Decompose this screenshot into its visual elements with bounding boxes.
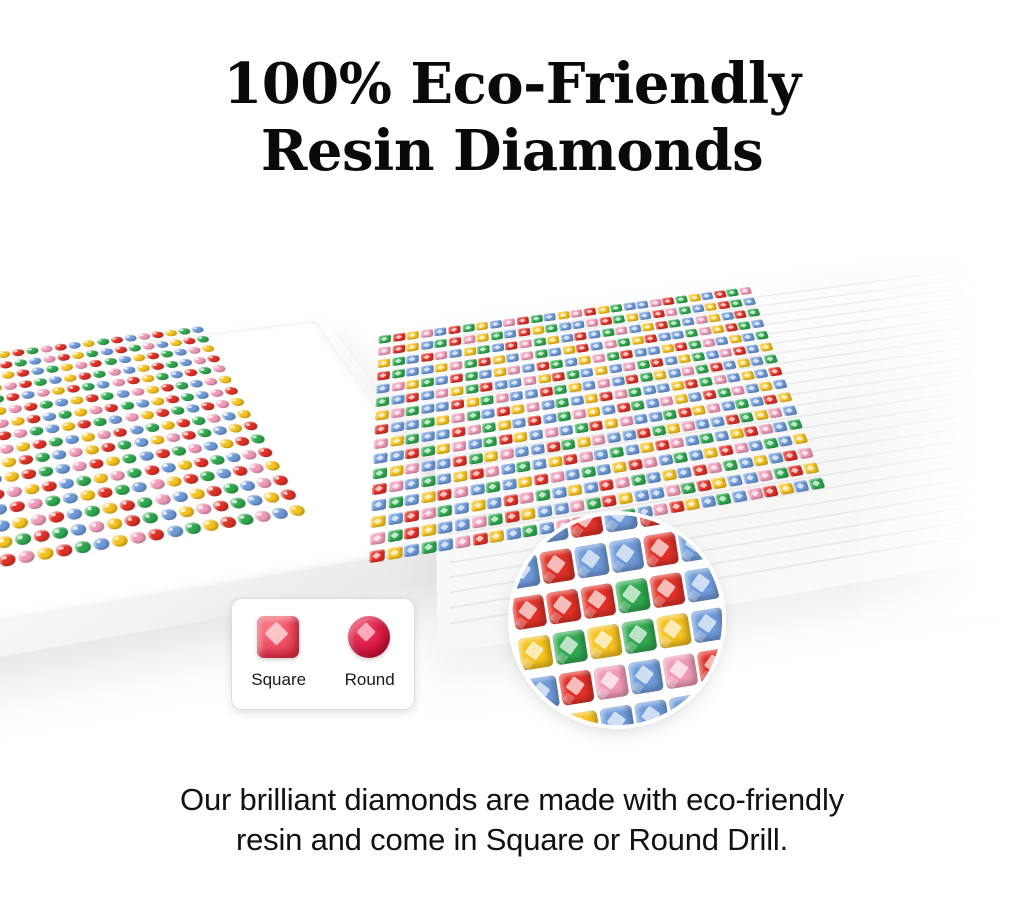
drill-bead	[644, 334, 658, 343]
drill-bead	[471, 515, 486, 529]
drill-bead	[0, 488, 5, 501]
drill-bead	[159, 383, 175, 392]
drill-bead	[194, 390, 210, 400]
drill-bead	[718, 444, 734, 456]
drill-bead	[684, 498, 701, 511]
drill-bead	[553, 502, 569, 515]
drill-bead	[703, 688, 722, 725]
drill-bead	[572, 409, 587, 420]
drill-bead	[520, 351, 533, 361]
drill-bead	[254, 477, 273, 489]
drill-bead	[467, 424, 481, 435]
drill-bead	[518, 476, 533, 489]
drill-bead	[71, 351, 85, 359]
drill-bead	[546, 335, 559, 345]
drill-bead	[217, 375, 233, 384]
drill-bead	[199, 401, 216, 411]
drill-shape-legend[interactable]: Square Round	[231, 598, 415, 710]
drill-bead	[654, 321, 668, 330]
drill-bead	[688, 293, 702, 302]
drill-bead	[449, 349, 462, 359]
drill-bead	[96, 429, 113, 440]
drill-bead	[159, 350, 174, 358]
caption-line-2: resin and come in Square or Round Drill.	[0, 820, 1024, 860]
legend-gems	[232, 613, 414, 661]
drill-bead	[45, 365, 59, 374]
drill-bead	[41, 480, 58, 492]
drill-bead	[630, 400, 645, 411]
drill-bead	[204, 485, 223, 498]
drill-bead	[680, 421, 695, 432]
drill-bead	[596, 378, 610, 388]
drill-bead	[596, 463, 612, 475]
drill-bead	[567, 484, 583, 497]
drill-bead	[504, 329, 517, 338]
drill-bead	[159, 461, 177, 473]
drill-bead	[141, 511, 160, 525]
drill-bead	[51, 526, 69, 540]
drill-bead	[533, 473, 548, 486]
drill-bead	[227, 423, 245, 434]
drill-bead	[11, 348, 25, 356]
drill-bead	[491, 343, 504, 353]
drill-bead	[650, 358, 664, 368]
drill-bead	[405, 478, 419, 491]
drill-bead	[623, 302, 636, 311]
drill-bead	[516, 460, 531, 472]
drill-bead	[512, 553, 541, 590]
drill-bead	[3, 381, 17, 390]
drill-bead	[392, 333, 405, 342]
drill-bead	[583, 307, 596, 316]
drill-bead	[599, 704, 636, 725]
drill-bead	[175, 459, 193, 471]
drill-bead	[508, 378, 522, 388]
drill-bead	[173, 348, 188, 356]
drill-bead	[33, 377, 48, 386]
drill-bead	[462, 335, 475, 344]
drill-bead	[153, 493, 172, 506]
drill-bead	[421, 390, 434, 401]
drill-bead	[452, 426, 466, 437]
drill-bead	[99, 347, 114, 355]
drill-bead	[568, 382, 582, 392]
drill-bead	[674, 342, 688, 352]
drill-bead	[603, 339, 617, 349]
drill-bead	[197, 366, 213, 375]
drill-bead	[421, 340, 434, 350]
legend-label-square: Square	[251, 670, 306, 690]
drill-bead	[406, 354, 419, 364]
drill-bead	[694, 315, 708, 324]
drill-bead	[479, 369, 492, 379]
drill-bead	[421, 431, 435, 443]
drill-bead	[469, 468, 484, 480]
drill-bead	[470, 483, 485, 496]
drill-bead	[119, 400, 135, 410]
drill-bead	[711, 325, 725, 334]
drill-bead	[555, 397, 569, 408]
product-banner: 100% Eco-Friendly Resin Diamonds Square …	[0, 0, 1024, 923]
drill-bead	[740, 370, 755, 380]
drill-bead	[392, 344, 405, 354]
drill-bead	[404, 543, 419, 557]
drill-bead	[688, 391, 703, 402]
drill-bead	[547, 456, 562, 468]
drill-bead	[608, 364, 622, 374]
drill-bead	[271, 474, 290, 486]
drill-bead	[406, 392, 419, 403]
drill-bead	[131, 481, 149, 493]
drill-bead	[584, 393, 598, 404]
drill-bead	[532, 458, 547, 470]
drill-bead	[782, 405, 798, 416]
drill-bead	[434, 327, 446, 336]
drill-bead	[576, 436, 591, 448]
drill-bead	[388, 496, 403, 509]
drill-bead	[378, 346, 391, 356]
drill-bead	[371, 515, 386, 529]
drill-bead	[176, 505, 195, 518]
drill-bead	[757, 469, 774, 481]
drill-bead	[737, 457, 753, 469]
drill-bead	[722, 459, 738, 471]
drill-bead	[111, 378, 126, 387]
drill-bead	[436, 443, 450, 455]
drill-bead	[712, 374, 727, 384]
drill-bead	[701, 338, 715, 348]
drill-bead	[612, 315, 625, 324]
drill-bead	[169, 370, 185, 379]
drill-bead	[665, 308, 679, 317]
drill-bead	[100, 442, 117, 453]
drill-bead	[134, 398, 150, 408]
drill-bead	[567, 515, 604, 538]
drill-bead	[256, 446, 275, 457]
drill-bead	[645, 471, 661, 484]
drill-bead	[101, 501, 119, 514]
drill-bead	[704, 302, 718, 311]
drill-bead	[670, 381, 685, 391]
drill-bead	[733, 310, 747, 319]
drill-bead	[224, 451, 242, 462]
drill-bead	[40, 345, 54, 353]
drill-bead	[606, 432, 621, 444]
drill-bead	[123, 412, 139, 422]
drill-bead	[551, 372, 565, 382]
drill-bead	[187, 346, 202, 354]
drill-bead	[8, 404, 23, 414]
drill-bead	[496, 406, 510, 417]
drill-bead	[714, 430, 730, 442]
drill-bead	[195, 335, 210, 343]
drill-bead	[647, 346, 661, 356]
drill-bead	[534, 349, 547, 359]
drill-bead	[54, 343, 68, 351]
drill-bead	[85, 349, 99, 357]
drill-bead	[731, 490, 748, 503]
drill-bead	[389, 465, 403, 477]
drill-bead	[465, 384, 478, 395]
drill-bead	[130, 387, 146, 396]
drill-bead	[170, 445, 188, 456]
drill-bead	[617, 338, 631, 348]
drill-bead	[141, 342, 156, 350]
drill-bead	[677, 407, 692, 418]
drill-bead	[634, 699, 671, 725]
drill-bead	[37, 465, 54, 477]
drill-bead	[8, 500, 25, 513]
drill-bead	[140, 374, 156, 383]
round-drill-tray	[0, 268, 380, 640]
drill-bead	[688, 340, 702, 350]
drill-bead	[557, 411, 571, 422]
drill-bead	[578, 451, 593, 463]
drill-bead	[497, 420, 511, 431]
drill-bead	[388, 480, 403, 493]
drill-bead	[712, 520, 722, 557]
drill-bead	[188, 379, 204, 388]
drill-bead	[767, 452, 784, 464]
drill-bead	[211, 425, 229, 436]
drill-bead	[608, 537, 645, 574]
drill-bead	[513, 431, 527, 443]
drill-bead	[405, 447, 419, 459]
drill-bead	[478, 357, 491, 367]
drill-bead	[421, 475, 435, 488]
drill-bead	[206, 354, 222, 363]
drill-bead	[178, 358, 193, 367]
drill-bead	[777, 392, 793, 403]
drill-bead	[169, 406, 186, 416]
drill-bead	[89, 359, 104, 368]
drill-bead	[665, 484, 681, 497]
drill-bead	[527, 415, 541, 426]
drill-bead	[492, 355, 505, 365]
drill-bead	[558, 322, 571, 331]
drill-bead	[730, 385, 745, 396]
drill-bead	[617, 492, 633, 505]
drill-bead	[677, 354, 691, 364]
drill-bead	[688, 449, 704, 461]
drill-bead	[657, 332, 671, 341]
drill-bead	[30, 367, 44, 376]
drill-bead	[436, 415, 450, 426]
drill-bead	[574, 542, 611, 579]
drill-bead	[602, 515, 639, 533]
drill-bead	[406, 342, 419, 352]
drill-bead	[68, 341, 82, 349]
drill-bead	[503, 318, 516, 327]
drill-bead	[551, 486, 566, 499]
drill-bead	[0, 383, 2, 392]
drill-bead	[435, 375, 448, 385]
drill-bead	[0, 350, 11, 358]
drill-bead	[612, 461, 628, 473]
drill-bead	[421, 507, 436, 520]
drill-bead	[164, 360, 179, 369]
drill-bead	[435, 363, 448, 373]
drill-bead	[64, 434, 80, 445]
drill-bead	[662, 297, 675, 306]
drill-bead	[164, 432, 181, 443]
drill-bead	[190, 415, 207, 425]
drill-bead	[437, 473, 451, 486]
drill-bead	[435, 339, 448, 349]
drill-bead	[678, 306, 692, 315]
drill-bead	[104, 455, 121, 467]
drill-bead	[633, 348, 647, 358]
drill-bead	[540, 399, 554, 410]
drill-bead	[580, 368, 594, 378]
drill-bead	[560, 333, 573, 342]
drill-bead	[698, 377, 713, 387]
drill-bead	[627, 387, 642, 398]
drill-bead	[542, 413, 556, 424]
drill-bead	[772, 421, 788, 432]
drill-bead	[636, 515, 673, 528]
drill-bead	[553, 384, 567, 395]
drill-bead	[601, 404, 616, 415]
drill-bead	[762, 437, 778, 449]
drill-bead	[448, 325, 460, 334]
drill-bead	[616, 402, 631, 413]
drill-bead	[591, 434, 606, 446]
drill-bead	[758, 423, 774, 434]
drill-bead	[12, 428, 28, 439]
drill-bead	[0, 553, 16, 568]
drill-bead	[31, 439, 47, 450]
drill-bead	[652, 309, 666, 318]
drill-bead	[92, 537, 111, 551]
drill-bead	[516, 316, 529, 325]
drill-bead	[531, 326, 544, 335]
drill-bead	[175, 418, 192, 428]
drill-bead	[669, 437, 685, 449]
drill-bead	[503, 494, 518, 507]
drill-bead	[3, 471, 20, 483]
drill-bead	[604, 418, 619, 429]
drill-bead	[183, 521, 203, 535]
drill-bead	[599, 391, 613, 402]
drill-bead	[58, 477, 75, 489]
drill-bead	[697, 647, 722, 684]
drill-bead	[583, 481, 599, 494]
drill-bead	[44, 495, 62, 508]
drill-bead	[742, 297, 756, 306]
drill-bead	[108, 414, 124, 424]
drill-bead	[706, 403, 721, 414]
drill-bead	[17, 549, 36, 564]
drill-bead	[0, 473, 2, 485]
drill-bead	[536, 361, 550, 371]
drill-bead	[530, 314, 543, 323]
drill-bead	[36, 546, 55, 561]
drill-bead	[36, 388, 51, 397]
drill-bead	[61, 492, 79, 505]
drill-bead	[73, 407, 89, 417]
drill-bead	[451, 412, 465, 423]
drill-bead	[552, 629, 589, 666]
drill-bead	[480, 395, 494, 406]
drill-bead	[722, 360, 737, 370]
drill-bead	[533, 337, 546, 347]
drill-bead	[83, 504, 101, 517]
drill-bead	[54, 463, 71, 475]
drill-bead	[711, 477, 728, 490]
round-gem-icon	[348, 616, 390, 658]
drill-bead	[116, 440, 133, 451]
drill-bead	[747, 487, 764, 500]
drill-bead	[587, 330, 600, 339]
drill-bead	[564, 357, 578, 367]
drill-bead	[190, 326, 205, 334]
drill-bead	[512, 515, 535, 549]
drill-bead	[481, 408, 495, 419]
drill-bead	[705, 350, 720, 360]
drill-bead	[148, 435, 165, 446]
drill-bead	[533, 515, 570, 544]
drill-bead	[42, 355, 56, 364]
drill-bead	[23, 402, 38, 412]
drill-bead	[405, 419, 419, 430]
drill-bead	[649, 299, 662, 308]
drill-bead	[792, 433, 808, 445]
drill-bead	[658, 454, 674, 466]
drill-bead	[700, 495, 717, 508]
drill-bead	[582, 380, 596, 390]
drill-bead	[684, 435, 700, 447]
drill-bead	[569, 500, 585, 513]
drill-bead	[484, 450, 498, 462]
drill-bead	[96, 380, 111, 389]
drill-bead	[462, 323, 475, 332]
drill-bead	[48, 375, 63, 384]
drill-bead	[782, 450, 799, 462]
drill-bead	[467, 438, 481, 450]
drill-bead	[808, 477, 825, 490]
drill-bead	[546, 441, 561, 453]
drill-bead	[139, 410, 155, 420]
drill-bead	[539, 386, 553, 397]
drill-bead	[512, 417, 526, 428]
drill-bead	[376, 396, 390, 407]
drill-bead	[511, 404, 525, 415]
drill-bead	[279, 488, 299, 501]
drill-bead	[743, 426, 759, 437]
drill-bead	[450, 386, 463, 397]
drill-bead	[164, 329, 179, 337]
drill-bead	[57, 353, 71, 361]
drill-bead	[181, 473, 199, 485]
drill-bead	[464, 371, 477, 381]
drill-bead	[103, 357, 118, 366]
drill-bead	[143, 422, 160, 433]
drill-bead	[777, 482, 794, 495]
drill-bead	[26, 414, 41, 424]
drill-bead	[628, 324, 642, 333]
drill-bead	[211, 364, 227, 373]
drill-bead	[406, 379, 419, 389]
drill-bead	[1, 457, 17, 469]
drill-bead	[135, 364, 150, 373]
drill-bead	[787, 419, 803, 430]
caption-line-1: Our brilliant diamonds are made with eco…	[0, 780, 1024, 820]
drill-bead	[510, 391, 524, 402]
drill-bead	[772, 379, 787, 389]
drill-bead	[123, 514, 142, 528]
drill-bead	[421, 403, 434, 414]
